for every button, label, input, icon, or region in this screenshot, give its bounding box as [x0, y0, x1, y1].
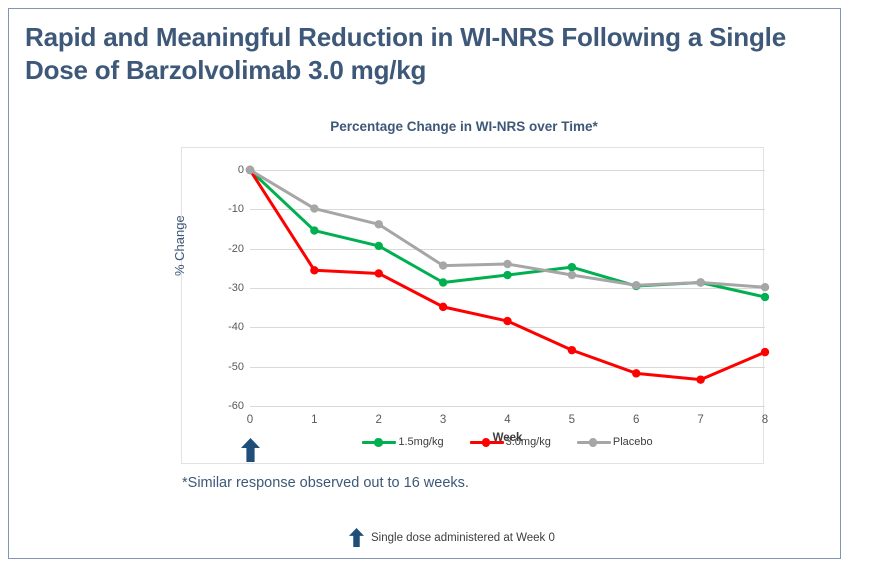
legend-item[interactable]: Placebo	[577, 436, 653, 448]
series-point	[761, 283, 769, 291]
x-tick-label: 7	[686, 414, 716, 426]
series-point	[375, 269, 383, 277]
series-point	[439, 278, 447, 286]
series-point	[375, 220, 383, 228]
x-tick-label: 1	[299, 414, 329, 426]
gridline	[250, 406, 765, 407]
chart-plot-area: 0-10-20-30-40-50-60 012345678 Week	[250, 170, 765, 406]
dose-caption-label: Single dose administered at Week 0	[371, 532, 555, 544]
x-tick-label: 4	[493, 414, 523, 426]
y-tick-label: -50	[204, 361, 244, 373]
series-point	[310, 204, 318, 212]
x-tick-label: 3	[428, 414, 458, 426]
chart-plot-frame: % Change 0-10-20-30-40-50-60 012345678 W…	[181, 147, 764, 464]
x-tick-label: 2	[364, 414, 394, 426]
series-point	[375, 242, 383, 250]
y-tick-label: -20	[204, 243, 244, 255]
legend-label: 1.5mg/kg	[398, 436, 443, 448]
chart-title: Percentage Change in WI-NRS over Time*	[164, 119, 764, 134]
x-tick-label: 5	[557, 414, 587, 426]
series-point	[503, 317, 511, 325]
series-point	[761, 293, 769, 301]
series-point	[310, 226, 318, 234]
series-point	[503, 260, 511, 268]
y-tick-label: -10	[204, 203, 244, 215]
x-tick-label: 8	[750, 414, 780, 426]
series-point	[310, 266, 318, 274]
series-point	[632, 281, 640, 289]
series-point	[439, 303, 447, 311]
y-tick-label: -60	[204, 400, 244, 412]
legend-label: 3.0mg/kg	[506, 436, 551, 448]
dose-caption: Single dose administered at Week 0	[349, 528, 555, 547]
y-tick-label: 0	[204, 164, 244, 176]
series-point	[439, 261, 447, 269]
series-point	[503, 271, 511, 279]
series-point	[568, 271, 576, 279]
series-point	[568, 346, 576, 354]
chart-legend: 1.5mg/kg3.0mg/kgPlacebo	[250, 436, 765, 448]
chart-container: Percentage Change in WI-NRS over Time* %…	[164, 119, 764, 469]
legend-swatch	[577, 437, 611, 448]
footnote-text: *Similar response observed out to 16 wee…	[182, 475, 469, 491]
legend-swatch	[470, 437, 504, 448]
slide-card: Rapid and Meaningful Reduction in WI-NRS…	[8, 8, 841, 559]
series-point	[246, 166, 254, 174]
x-tick-label: 0	[235, 414, 265, 426]
legend-swatch	[362, 437, 396, 448]
up-arrow-icon	[349, 528, 364, 547]
series-point	[568, 263, 576, 271]
legend-item[interactable]: 3.0mg/kg	[470, 436, 551, 448]
y-axis-title: % Change	[172, 215, 187, 276]
page-title: Rapid and Meaningful Reduction in WI-NRS…	[25, 21, 825, 88]
y-tick-label: -40	[204, 321, 244, 333]
series-point	[696, 278, 704, 286]
series-point	[632, 369, 640, 377]
legend-label: Placebo	[613, 436, 653, 448]
x-tick-label: 6	[621, 414, 651, 426]
legend-item[interactable]: 1.5mg/kg	[362, 436, 443, 448]
y-tick-label: -30	[204, 282, 244, 294]
chart-series-layer	[250, 170, 765, 406]
series-point	[761, 348, 769, 356]
series-point	[696, 375, 704, 383]
